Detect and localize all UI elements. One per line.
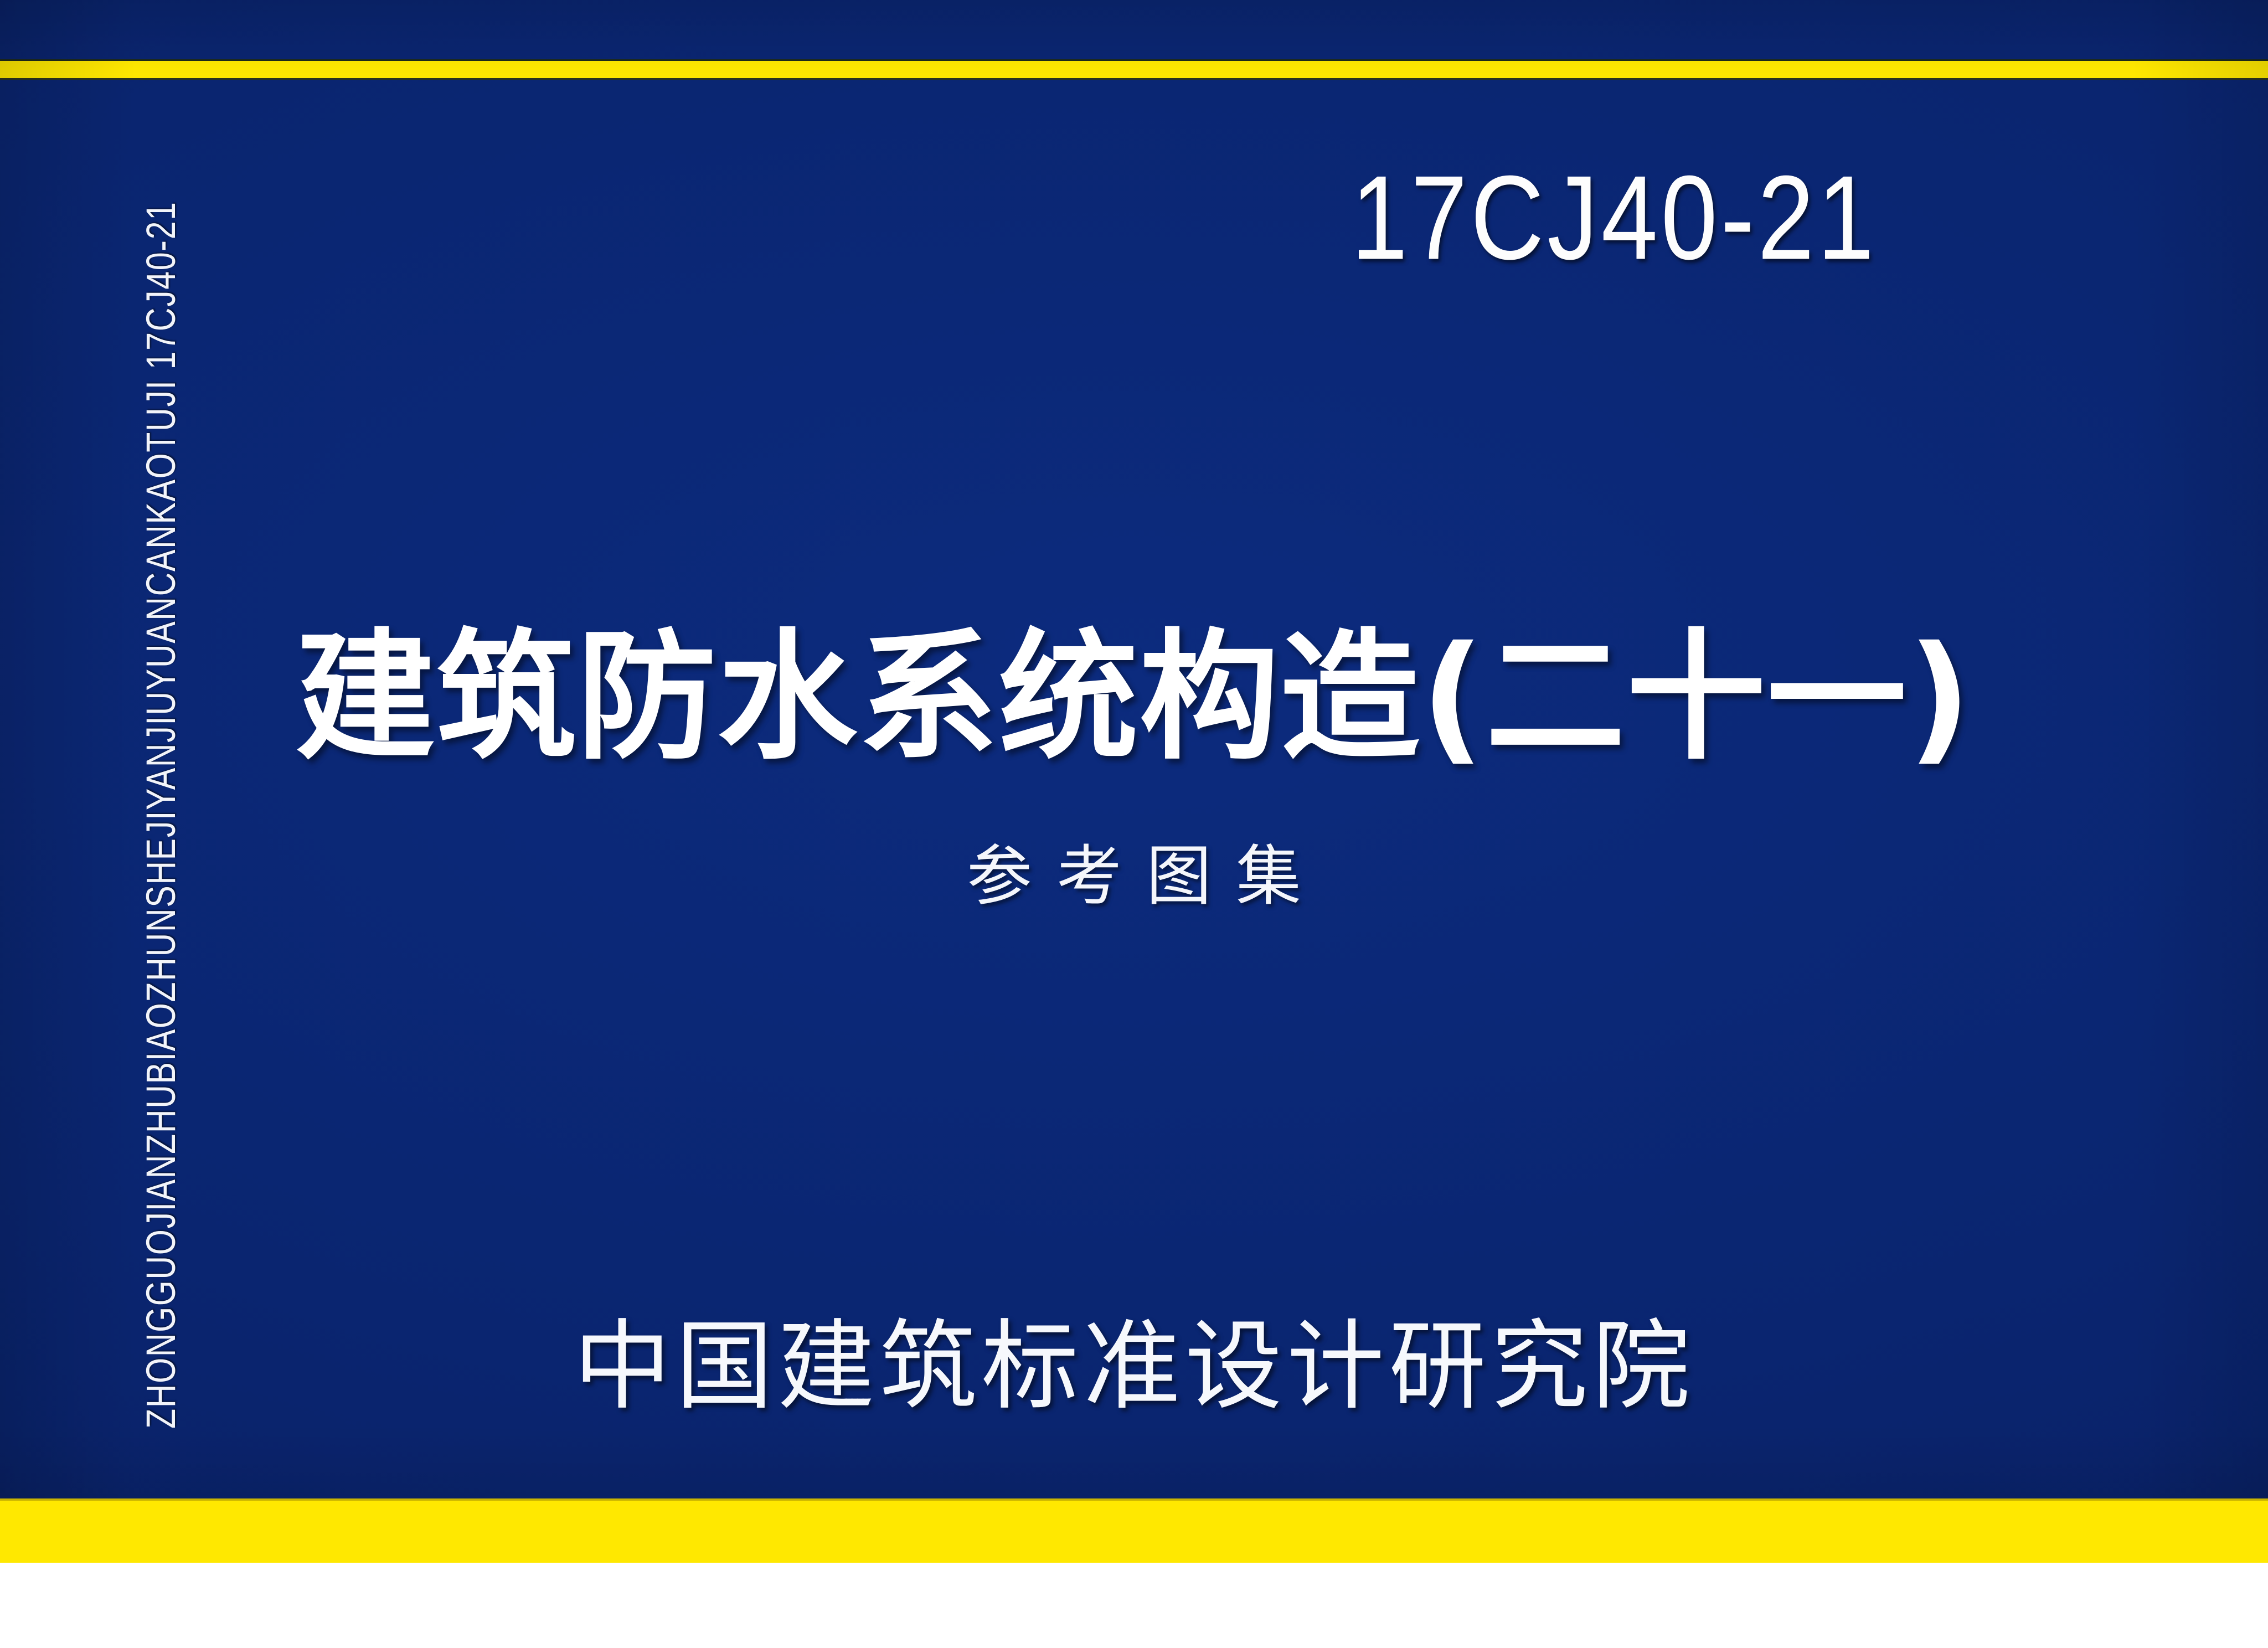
publisher-name: 中国建筑标准设计研究院: [0, 1311, 2268, 1422]
bottom-paper-margin: [0, 1563, 2268, 1648]
spine-pinyin-label: ZHONGGUOJIANZHUBIAOZHUNSHEJIYANJIUYUANCA…: [137, 201, 184, 1429]
atlas-code: 17CJ40-21: [1351, 158, 1877, 278]
page-title: 建筑防水系统构造(二十一): [0, 615, 2268, 781]
top-yellow-rule: [0, 61, 2268, 78]
book-cover-page: ZHONGGUOJIANZHUBIAOZHUNSHEJIYANJIUYUANCA…: [0, 0, 2268, 1648]
bottom-yellow-band: [0, 1498, 2268, 1563]
subtitle: 参考图集: [0, 837, 2268, 915]
